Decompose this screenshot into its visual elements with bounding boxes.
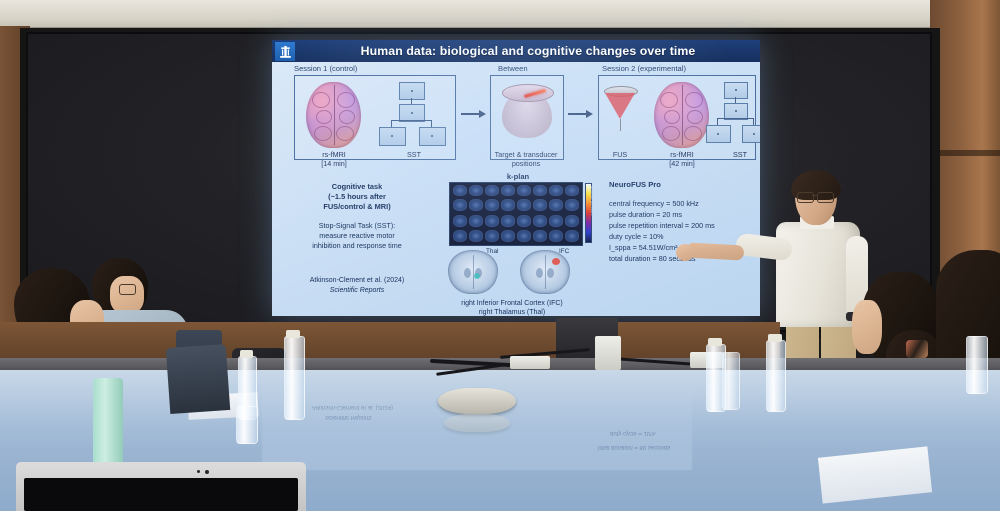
- laptop-webcam-light-icon: [205, 470, 209, 474]
- presenter-glasses-bridge: [812, 195, 817, 196]
- sst-connector: [717, 118, 718, 125]
- fus-focus-line: [620, 119, 621, 131]
- sst-cell: [706, 125, 731, 143]
- laptop[interactable]: [166, 344, 230, 414]
- sst-cell: [742, 125, 760, 143]
- session2-sst-caption: SST: [712, 151, 760, 160]
- session2-fus-caption: FUS: [596, 151, 644, 160]
- session1-rsfmri-duration: [14 min]: [300, 160, 368, 169]
- sst-connector: [391, 120, 432, 121]
- kplan-montage: [449, 182, 583, 246]
- institution-logo-icon: [275, 42, 295, 61]
- water-bottle[interactable]: [766, 340, 786, 412]
- kplan-row-label-ifc: IFC: [435, 200, 442, 205]
- session2-rsfmri-duration: [42 min]: [648, 160, 716, 169]
- neurofus-param-2: pulse repetition interval = 200 ms: [609, 221, 715, 230]
- axial-slice-ifc: [520, 250, 570, 294]
- mint-thermos[interactable]: [93, 378, 123, 468]
- citation-line2: Scientific Reports: [280, 287, 434, 294]
- axial-caption-line1: right Inferior Frontal Cortex (IFC): [432, 300, 592, 307]
- sst-connector: [717, 118, 754, 119]
- kplan-title: k-plan: [478, 172, 558, 181]
- presenter-hand: [676, 244, 694, 261]
- cognitive-task-heading-1: Cognitive task: [284, 182, 430, 191]
- kplan-row-label-thal: Thal: [433, 224, 442, 229]
- sst-desc-line1: Stop-Signal Task (SST):: [282, 221, 432, 230]
- kplan-colorbar-label: acoustic pressure: [590, 186, 594, 216]
- water-bottle[interactable]: [966, 336, 988, 394]
- paper-cup[interactable]: [236, 406, 258, 444]
- citation-line1: Atkinson-Clement et al. (2024): [280, 277, 434, 284]
- between-label: Between: [498, 64, 528, 73]
- fus-cone-render: [605, 93, 635, 119]
- cognitive-task-heading-2: (~1.5 hours after: [284, 192, 430, 201]
- attendee-white-top-face: [852, 300, 882, 354]
- sst-cell: [724, 82, 748, 99]
- neurofus-param-3: duty cycle = 10%: [609, 232, 664, 241]
- presentation-slide: Human data: biological and cognitive cha…: [272, 40, 760, 316]
- brain-render-session2: [654, 82, 709, 148]
- water-bottle-cap: [240, 350, 253, 358]
- brain-render-session1: [306, 82, 361, 148]
- axial-caption-line2: right Thalamus (Thal): [432, 309, 592, 316]
- water-bottle[interactable]: [284, 336, 305, 420]
- presenter-forearm: [686, 242, 745, 260]
- power-adapter: [510, 356, 550, 369]
- neurofus-heading: NeuroFUS Pro: [609, 180, 661, 189]
- presentation-room-photo: Human data: biological and cognitive cha…: [0, 0, 1000, 511]
- wall-panel-seam: [930, 150, 1000, 156]
- attendee-white-top-scrunchie: [906, 340, 928, 358]
- laptop-screen: [24, 478, 298, 511]
- sst-connector: [431, 120, 432, 127]
- power-strip: [595, 336, 621, 370]
- between-caption-2: positions: [478, 160, 574, 169]
- sst-connector: [391, 120, 392, 127]
- session1-label: Session 1 (control): [294, 64, 357, 73]
- sst-connector: [753, 118, 754, 125]
- sst-desc-line3: inhibition and response time: [282, 241, 432, 250]
- conference-speakerphone[interactable]: [438, 388, 516, 414]
- presenter-glasses-left-lens: [797, 192, 814, 203]
- speakerphone-reflection: [444, 414, 510, 432]
- axial-slice-thal: [448, 250, 498, 294]
- session1-sst-caption: SST: [384, 151, 444, 160]
- axial-label-ifc: IFC: [559, 248, 569, 255]
- neurofus-param-4: I_sppa = 54.51W/cm²: [609, 243, 678, 252]
- cognitive-task-heading-3: FUS/control & MRI): [284, 202, 430, 211]
- neurofus-param-0: central frequency = 500 kHz: [609, 199, 699, 208]
- arrow-session1-to-between: [461, 110, 487, 118]
- session2-label: Session 2 (experimental): [602, 64, 686, 73]
- water-bottle-cap: [768, 334, 782, 342]
- presenter-glasses-right-lens: [817, 192, 834, 203]
- ceiling: [0, 0, 1000, 30]
- sst-cell: [419, 127, 446, 146]
- laptop-webcam-icon: [197, 470, 200, 473]
- sst-desc-line2: measure reactive motor: [282, 231, 432, 240]
- attendee-blue-polo-glasses: [119, 284, 136, 295]
- arrow-between-to-session2: [568, 110, 594, 118]
- neurofus-param-1: pulse duration = 20 ms: [609, 210, 682, 219]
- slide-title: Human data: biological and cognitive cha…: [300, 42, 756, 61]
- water-bottle-cap: [708, 338, 722, 346]
- attendee-blue-polo-face: [110, 276, 144, 314]
- sst-cell: [379, 127, 406, 146]
- water-bottle-cap: [286, 330, 300, 338]
- water-bottle[interactable]: [722, 352, 740, 410]
- axial-label-thal: Thal: [486, 248, 498, 255]
- slide-body: Session 1 (control) rs-fMRI [14 min] SST: [272, 62, 760, 316]
- sst-cell: [399, 82, 425, 100]
